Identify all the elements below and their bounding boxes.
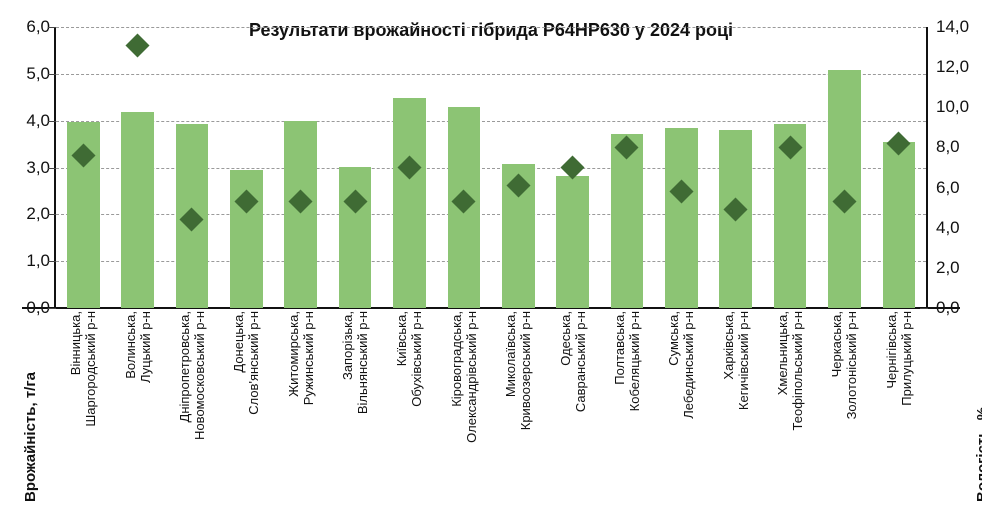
category-label-line2: Кегичівський р-н xyxy=(736,311,751,525)
right-tick-mark xyxy=(920,308,928,309)
right-tick-label: 10,0 xyxy=(936,98,969,116)
category-label: Черкаська,Золотоніський р-н xyxy=(817,311,871,527)
left-tick-mark xyxy=(48,214,56,215)
left-tick-label: 2,0 xyxy=(26,205,50,223)
category-label: Вінницька,Шаргородський р-н xyxy=(56,311,110,527)
bar-slot[interactable] xyxy=(872,27,926,308)
bar[interactable] xyxy=(393,98,426,308)
bar-slot[interactable] xyxy=(709,27,763,308)
bar[interactable] xyxy=(284,121,317,308)
category-label: Київська,Обухівський р-н xyxy=(382,311,436,527)
left-tick-mark xyxy=(48,261,56,262)
plot-area xyxy=(56,27,926,308)
category-label-line2: Шаргородський р-н xyxy=(83,311,98,525)
bar-slot[interactable] xyxy=(437,27,491,308)
bar-slot[interactable] xyxy=(110,27,164,308)
bar-slot[interactable] xyxy=(328,27,382,308)
category-label-line2: Вільнянський р-н xyxy=(355,311,370,525)
category-label: Запорізька,Вільнянський р-н xyxy=(328,311,382,527)
category-label: Миколаївська,Кривоозерський р-н xyxy=(491,311,545,527)
category-label-line1: Донецька, xyxy=(231,311,246,525)
bar[interactable] xyxy=(121,112,154,308)
right-tick-label: 12,0 xyxy=(936,58,969,76)
left-tick-mark xyxy=(48,308,56,309)
bar-slot[interactable] xyxy=(654,27,708,308)
category-label-line1: Хмельницька, xyxy=(775,311,790,525)
category-label-line2: Золотоніський р-н xyxy=(844,311,859,525)
category-label-line1: Сумська, xyxy=(666,311,681,525)
category-label-line2: Кривоозерський р-н xyxy=(518,311,533,525)
bar[interactable] xyxy=(665,128,698,308)
right-tick-label: 8,0 xyxy=(936,138,960,156)
bar-slot[interactable] xyxy=(382,27,436,308)
left-tick-label: 4,0 xyxy=(26,112,50,130)
category-label-line1: Чернігівська, xyxy=(884,311,899,525)
category-label-line2: Обухівський р-н xyxy=(409,311,424,525)
category-label-line1: Вінницька, xyxy=(68,311,83,525)
right-tick-label: 6,0 xyxy=(936,179,960,197)
category-label: Кіровоградська,Олександрівський р-н xyxy=(437,311,491,527)
bar-series xyxy=(56,27,926,308)
category-label-line2: Луцький р-н xyxy=(138,311,153,525)
left-tick-label: 3,0 xyxy=(26,159,50,177)
bar-slot[interactable] xyxy=(600,27,654,308)
bar-slot[interactable] xyxy=(165,27,219,308)
bar[interactable] xyxy=(556,176,589,308)
category-label-line2: Олександрівський р-н xyxy=(464,311,479,525)
right-tick-label: 14,0 xyxy=(936,18,969,36)
bar-slot[interactable] xyxy=(56,27,110,308)
right-axis-tick-labels: 14,012,010,08,06,04,02,00,0 xyxy=(932,0,978,527)
category-label: Одеська,Савранський р-н xyxy=(545,311,599,527)
category-label-line1: Дніпропетровська, xyxy=(177,311,192,525)
right-axis-title: Вологість, % xyxy=(974,407,982,502)
category-label-line1: Волинська, xyxy=(123,311,138,525)
right-tick-label: 4,0 xyxy=(936,219,960,237)
category-label: Харківська,Кегичівський р-н xyxy=(709,311,763,527)
bar[interactable] xyxy=(883,142,916,308)
category-label-line1: Запорізька, xyxy=(340,311,355,525)
category-label: Дніпропетровська,Новомосковський р-н xyxy=(165,311,219,527)
category-label-line1: Черкаська, xyxy=(829,311,844,525)
category-label-line2: Лебединський р-н xyxy=(681,311,696,525)
category-axis-labels: Вінницька,Шаргородський р-нВолинська,Луц… xyxy=(56,311,926,527)
category-label-line2: Ружинський р-н xyxy=(301,311,316,525)
category-label: Волинська,Луцький р-н xyxy=(110,311,164,527)
category-label-line1: Київська, xyxy=(394,311,409,525)
bar[interactable] xyxy=(611,134,644,308)
category-label-line1: Полтавська, xyxy=(612,311,627,525)
bar-slot[interactable] xyxy=(763,27,817,308)
left-tick-mark xyxy=(48,74,56,75)
left-tick-label: 1,0 xyxy=(26,252,50,270)
category-label-line2: Савранський р-н xyxy=(573,311,588,525)
bar-slot[interactable] xyxy=(219,27,273,308)
category-label-line2: Теофіпольський р-н xyxy=(790,311,805,525)
right-tick-label: 2,0 xyxy=(936,259,960,277)
left-tick-mark xyxy=(48,121,56,122)
chart-container: Результати врожайності гібрида P64HP630 … xyxy=(0,0,982,527)
left-tick-label: 6,0 xyxy=(26,18,50,36)
left-tick-mark xyxy=(48,168,56,169)
left-axis-title: Врожайність, т/га xyxy=(22,372,39,502)
category-label-line1: Одеська, xyxy=(558,311,573,525)
category-label: Донецька,Слов'янський р-н xyxy=(219,311,273,527)
moisture-diamond-marker[interactable] xyxy=(126,33,150,57)
bar-slot[interactable] xyxy=(491,27,545,308)
category-label: Сумська,Лебединський р-н xyxy=(654,311,708,527)
category-label: Чернігівська,Прилуцький р-н xyxy=(872,311,926,527)
category-label-line1: Кіровоградська, xyxy=(449,311,464,525)
category-label: Житомирська,Ружинський р-н xyxy=(274,311,328,527)
category-label-line2: Слов'янський р-н xyxy=(246,311,261,525)
category-label-line2: Прилуцький р-н xyxy=(899,311,914,525)
category-label-line1: Житомирська, xyxy=(286,311,301,525)
left-tick-mark xyxy=(48,27,56,28)
category-label-line2: Новомосковський р-н xyxy=(192,311,207,525)
right-axis-spine xyxy=(926,27,928,309)
category-label: Хмельницька,Теофіпольський р-н xyxy=(763,311,817,527)
bar-slot[interactable] xyxy=(274,27,328,308)
category-label: Полтавська,Кобеляцький р-н xyxy=(600,311,654,527)
category-label-line2: Кобеляцький р-н xyxy=(627,311,642,525)
bar-slot[interactable] xyxy=(817,27,871,308)
bar-slot[interactable] xyxy=(545,27,599,308)
category-label-line1: Харківська, xyxy=(721,311,736,525)
left-tick-label: 5,0 xyxy=(26,65,50,83)
category-label-line1: Миколаївська, xyxy=(503,311,518,525)
